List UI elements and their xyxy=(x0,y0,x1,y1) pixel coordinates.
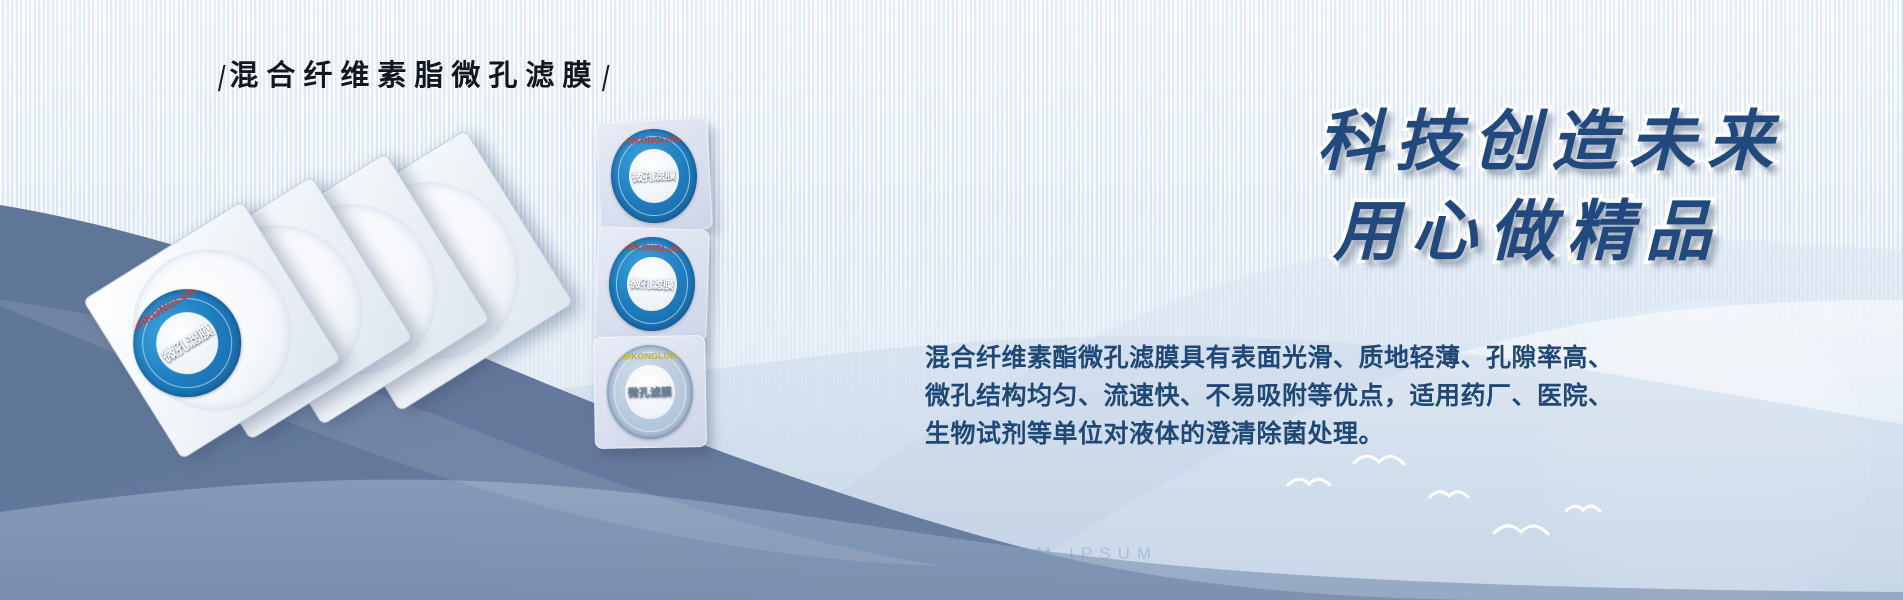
slogan-line-2: 用心做精品 xyxy=(1333,178,1723,274)
birds-silhouette xyxy=(1280,455,1620,565)
membrane-chip: WEIKONGLUMO 微孔滤膜 xyxy=(594,226,710,342)
description-line-1: 混合纤维素酯微孔滤膜具有表面光滑、质地轻薄、孔隙率高、 xyxy=(925,340,1625,378)
slogan-line-1: 科技创造未来 xyxy=(1317,88,1785,184)
watermark-text: LOREM IPSUM xyxy=(962,544,1158,564)
promo-banner: |混合纤维素脂微孔滤膜| WEIKONGLUMO 微孔滤膜 WEIKONGLUM… xyxy=(0,0,1903,600)
description-paragraph: 混合纤维素酯微孔滤膜具有表面光滑、质地轻薄、孔隙率高、 微孔结构均匀、流速快、不… xyxy=(925,340,1625,454)
description-line-2: 微孔结构均匀、流速快、不易吸附等优点，适用药厂、医院、 xyxy=(925,378,1625,416)
brand-label-en: WEIKONGLUMO xyxy=(611,241,696,254)
section-title-text: 混合纤维素脂微孔滤膜 xyxy=(229,60,599,92)
membrane-chip: WEIKONGLUMO 微孔滤膜 xyxy=(593,335,707,449)
title-bar-left-icon: | xyxy=(215,60,228,93)
membrane-chip: WEIKONGLUMO 微孔滤膜 xyxy=(595,117,713,235)
brand-label-cn: 微孔滤膜 xyxy=(609,275,695,294)
brand-label: WEIKONGLUMO 微孔滤膜 xyxy=(607,344,694,440)
description-line-3: 生物试剂等单位对液体的澄清除菌处理。 xyxy=(925,416,1625,454)
section-title: |混合纤维素脂微孔滤膜| xyxy=(215,52,614,94)
brand-label-cn: 微孔滤膜 xyxy=(607,383,692,400)
title-bar-right-icon: | xyxy=(600,60,613,93)
brand-label: WEIKONGLUMO 微孔滤膜 xyxy=(609,127,699,225)
brand-label: WEIKONGLUMO 微孔滤膜 xyxy=(608,235,696,332)
brand-label-en: WEIKONGLUMO xyxy=(607,350,692,361)
